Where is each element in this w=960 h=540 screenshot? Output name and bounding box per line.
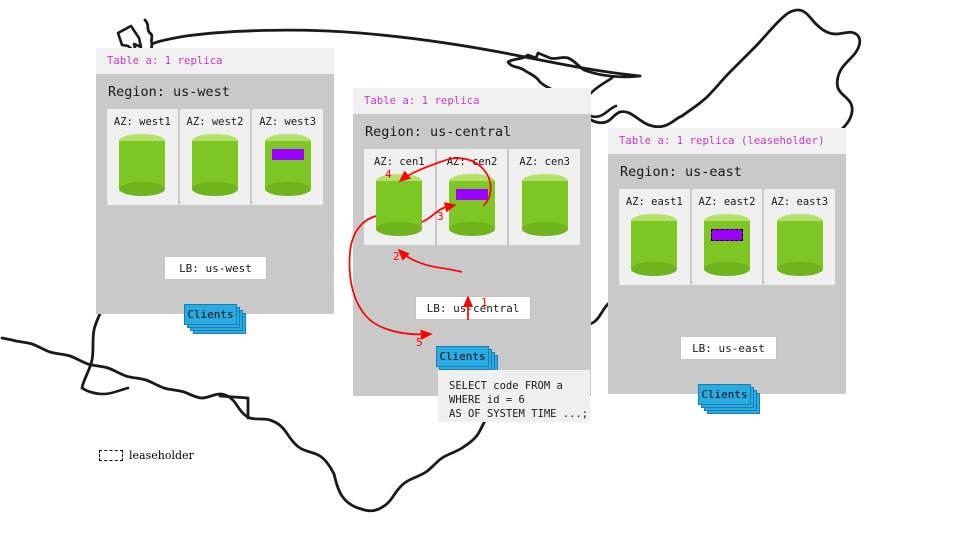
az-label-cen1: AZ: cen1 (374, 156, 425, 168)
arrow-label-2: 2 (393, 250, 400, 263)
clients-label-us-east[interactable]: Clients (698, 384, 751, 405)
az-label-west3: AZ: west3 (259, 116, 316, 128)
node-cylinder-east3[interactable] (777, 214, 823, 276)
az-label-east2: AZ: east2 (699, 196, 756, 208)
az-east2[interactable]: AZ: east2 (692, 189, 763, 285)
az-west3[interactable]: AZ: west3 (252, 109, 323, 205)
az-label-cen2: AZ: cen2 (447, 156, 498, 168)
az-label-east3: AZ: east3 (771, 196, 828, 208)
node-cylinder-east1[interactable] (631, 214, 677, 276)
az-row-us-west: AZ: west1 AZ: west2 AZ (107, 109, 323, 205)
diagram-canvas: 1 2 3 4 5 Table a: 1 replica Region: us-… (0, 0, 960, 540)
cylinder-bottom (119, 182, 165, 196)
cylinder-bottom (631, 262, 677, 276)
region-panel-us-west: Table a: 1 replica Region: us-west AZ: w… (96, 48, 334, 314)
arrow-label-5: 5 (416, 336, 423, 349)
cylinder-bottom (522, 222, 568, 236)
clients-us-west[interactable]: Clients (184, 304, 246, 334)
cylinder-bottom (777, 262, 823, 276)
region-body-us-central: Region: us-central AZ: cen1 AZ: cen2 (353, 114, 591, 396)
region-title-us-central: Region: us-central (353, 114, 591, 149)
region-body-us-east: Region: us-east AZ: east1 AZ: east2 (608, 154, 846, 394)
region-panel-us-east: Table a: 1 replica (leaseholder) Region:… (608, 128, 846, 394)
node-cylinder-cen1[interactable] (376, 174, 422, 236)
node-cylinder-west3[interactable] (265, 134, 311, 196)
node-cylinder-west2[interactable] (192, 134, 238, 196)
replica-west3[interactable] (272, 149, 304, 160)
az-cen2[interactable]: AZ: cen2 (437, 149, 508, 245)
region-header-us-west: Table a: 1 replica (96, 48, 334, 74)
cylinder-bottom (449, 222, 495, 236)
dashed-rect-icon (99, 450, 123, 461)
region-title-us-east: Region: us-east (608, 154, 846, 189)
clients-us-east[interactable]: Clients (698, 384, 760, 414)
az-row-us-central: AZ: cen1 AZ: cen2 (364, 149, 580, 245)
legend: leaseholder (99, 449, 194, 462)
arrow-label-1: 1 (481, 296, 488, 309)
az-west1[interactable]: AZ: west1 (107, 109, 178, 205)
node-cylinder-east2[interactable] (704, 214, 750, 276)
replica-east2-leaseholder[interactable] (711, 229, 743, 241)
replica-cen2[interactable] (456, 189, 488, 200)
az-west2[interactable]: AZ: west2 (180, 109, 251, 205)
node-cylinder-cen2[interactable] (449, 174, 495, 236)
az-label-west1: AZ: west1 (114, 116, 171, 128)
az-cen1[interactable]: AZ: cen1 (364, 149, 435, 245)
az-row-us-east: AZ: east1 AZ: east2 (619, 189, 835, 285)
clients-label-us-central[interactable]: Clients (436, 346, 489, 367)
arrow-label-4: 4 (385, 168, 392, 181)
legend-label: leaseholder (129, 449, 194, 462)
az-east1[interactable]: AZ: east1 (619, 189, 690, 285)
region-panel-us-central: Table a: 1 replica Region: us-central AZ… (353, 88, 591, 396)
load-balancer-us-central[interactable]: LB: us-central (415, 296, 531, 320)
cylinder-bottom (265, 182, 311, 196)
region-header-us-east: Table a: 1 replica (leaseholder) (608, 128, 846, 154)
az-label-east1: AZ: east1 (626, 196, 683, 208)
cylinder-bottom (704, 262, 750, 276)
sql-query-note: SELECT code FROM a WHERE id = 6 AS OF SY… (438, 370, 590, 422)
clients-label-us-west[interactable]: Clients (184, 304, 237, 325)
az-label-west2: AZ: west2 (187, 116, 244, 128)
region-title-us-west: Region: us-west (96, 74, 334, 109)
region-body-us-west: Region: us-west AZ: west1 AZ: west2 (96, 74, 334, 314)
az-label-cen3: AZ: cen3 (519, 156, 570, 168)
az-cen3[interactable]: AZ: cen3 (509, 149, 580, 245)
node-cylinder-cen3[interactable] (522, 174, 568, 236)
cylinder-bottom (376, 222, 422, 236)
load-balancer-us-east[interactable]: LB: us-east (680, 336, 777, 360)
load-balancer-us-west[interactable]: LB: us-west (164, 256, 267, 280)
node-cylinder-west1[interactable] (119, 134, 165, 196)
az-east3[interactable]: AZ: east3 (764, 189, 835, 285)
arrow-label-3: 3 (437, 210, 444, 223)
us-map-path-baja-notch (82, 388, 128, 394)
cylinder-bottom (192, 182, 238, 196)
region-header-us-central: Table a: 1 replica (353, 88, 591, 114)
